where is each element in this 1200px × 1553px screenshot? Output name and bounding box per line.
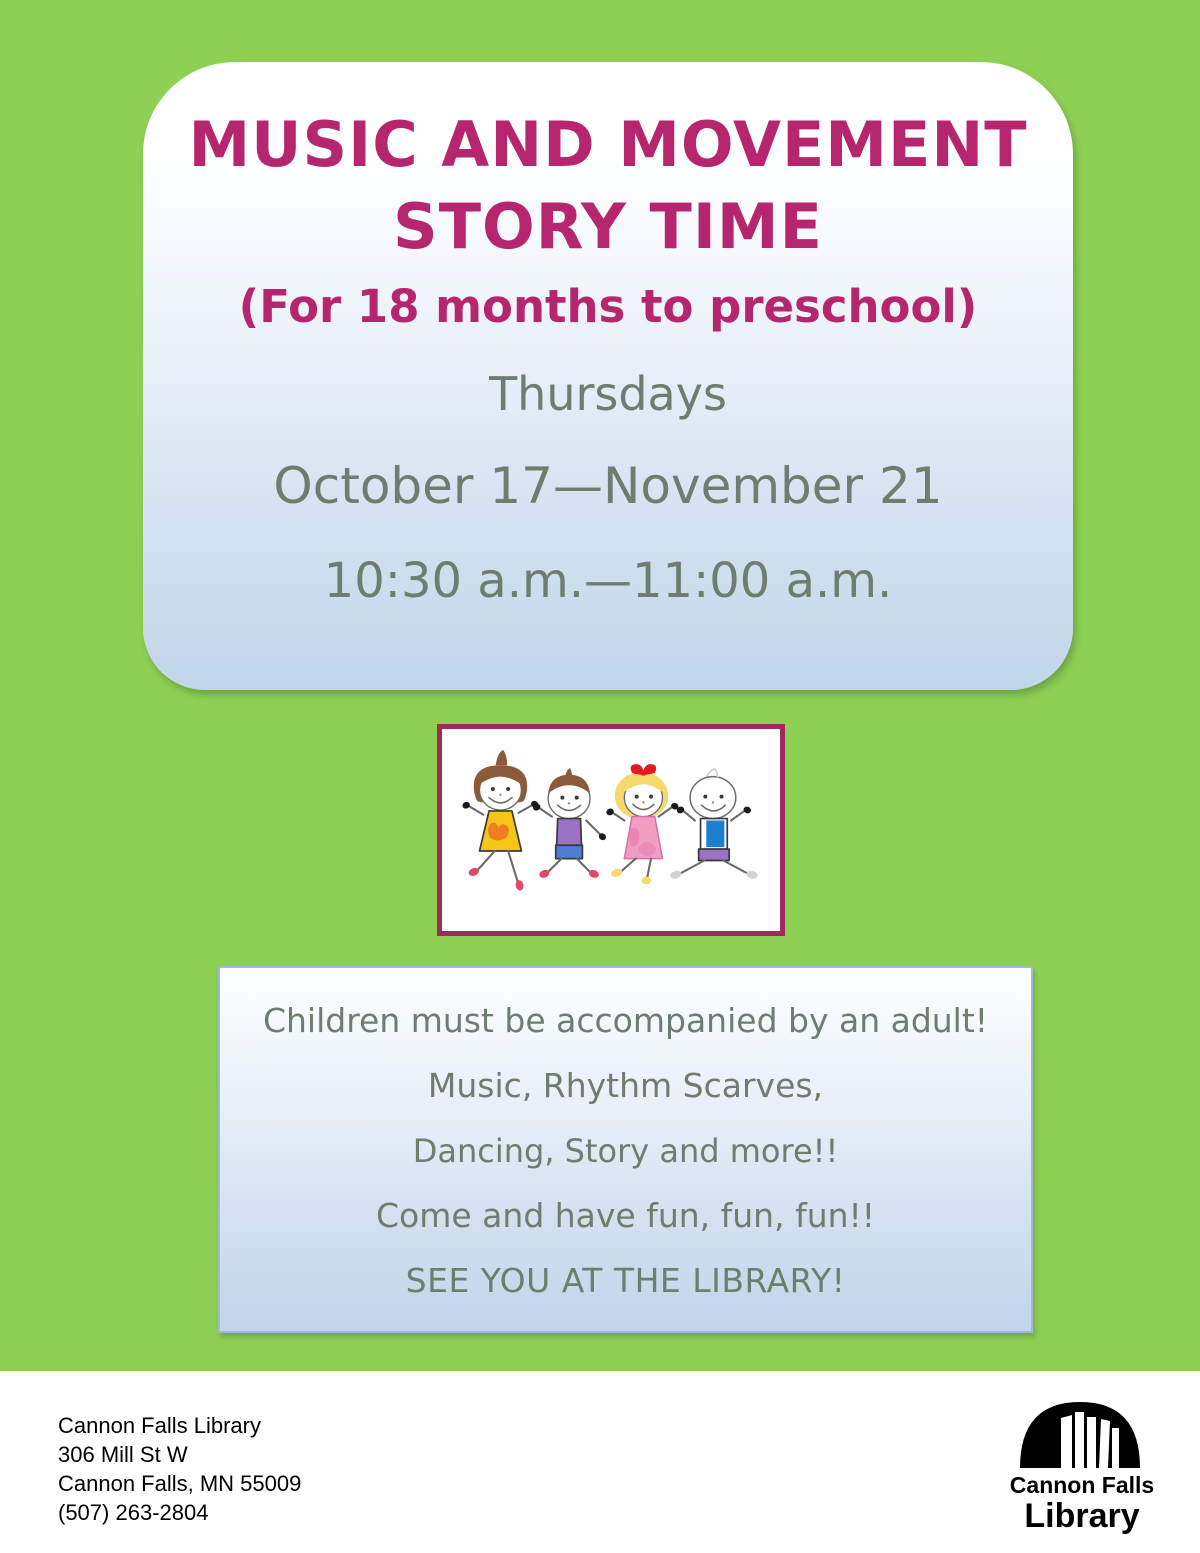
schedule-day: Thursdays xyxy=(143,371,1073,417)
details-box: Children must be accompanied by an adult… xyxy=(218,966,1033,1333)
library-logo: Cannon Falls Library xyxy=(1007,1398,1157,1538)
schedule-time-range: 10:30 a.m.—11:00 a.m. xyxy=(143,557,1073,605)
header-card-content: MUSIC AND MOVEMENT STORY TIME (For 18 mo… xyxy=(143,62,1073,605)
address-line-phone: (507) 263-2804 xyxy=(58,1498,301,1527)
details-line-2: Music, Rhythm Scarves, xyxy=(220,1069,1031,1102)
logo-text-cannon-falls: Cannon Falls xyxy=(1007,1474,1157,1497)
address-line-street: 306 Mill St W xyxy=(58,1440,301,1469)
poster-page: MUSIC AND MOVEMENT STORY TIME (For 18 mo… xyxy=(0,0,1200,1553)
address-line-city: Cannon Falls, MN 55009 xyxy=(58,1469,301,1498)
header-card: MUSIC AND MOVEMENT STORY TIME (For 18 mo… xyxy=(143,62,1073,690)
details-line-5: SEE YOU AT THE LIBRARY! xyxy=(220,1264,1031,1297)
library-address-block: Cannon Falls Library 306 Mill St W Canno… xyxy=(58,1411,301,1527)
clipart-frame xyxy=(437,724,785,936)
details-line-4: Come and have fun, fun, fun!! xyxy=(220,1199,1031,1232)
address-line-name: Cannon Falls Library xyxy=(58,1411,301,1440)
jumping-children-illustration xyxy=(442,729,780,931)
poster-title-line-1: MUSIC AND MOVEMENT xyxy=(143,114,1073,176)
poster-title-line-2: STORY TIME xyxy=(143,196,1073,258)
schedule-date-range: October 17—November 21 xyxy=(143,461,1073,511)
poster-audience-subtitle: (For 18 months to preschool) xyxy=(143,284,1073,329)
books-dome-icon xyxy=(1015,1398,1145,1468)
details-line-3: Dancing, Story and more!! xyxy=(220,1135,1031,1167)
logo-text-library: Library xyxy=(1007,1499,1157,1533)
details-line-1: Children must be accompanied by an adult… xyxy=(220,1004,1031,1037)
